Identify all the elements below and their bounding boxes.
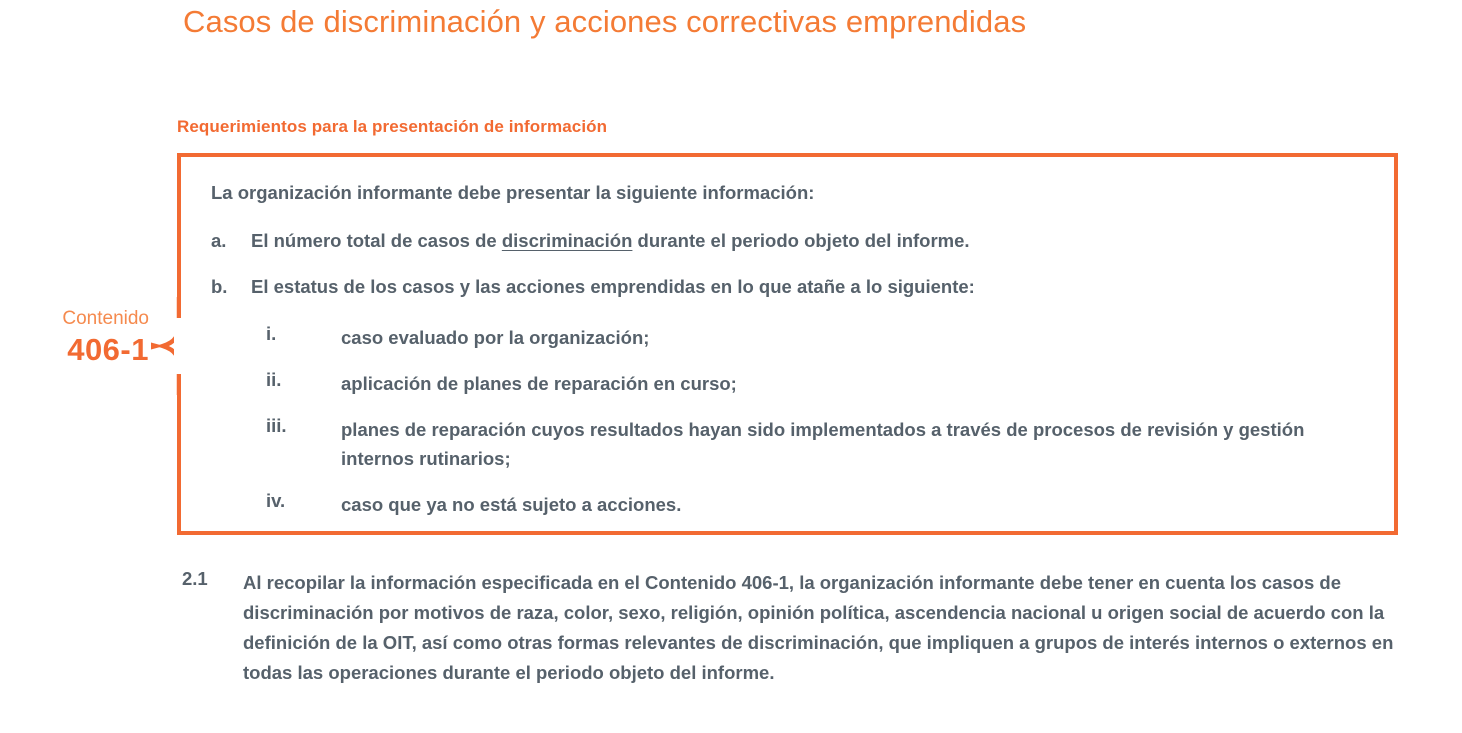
clause-number: 2.1 bbox=[182, 568, 208, 590]
glossary-term-link[interactable]: discriminación bbox=[502, 230, 633, 251]
list-item-text: El estatus de los casos y las acciones e… bbox=[251, 276, 975, 298]
list-marker: a. bbox=[211, 230, 237, 252]
list-item-text: caso que ya no está sujeto a acciones. bbox=[341, 490, 1351, 519]
list-marker: iv. bbox=[266, 490, 330, 512]
content-label-number: 406-1 bbox=[0, 332, 152, 368]
clause-text: Al recopilar la información especificada… bbox=[243, 568, 1403, 688]
list-item-text-before: El número total de casos de bbox=[251, 230, 502, 251]
brace-border-mask bbox=[174, 318, 181, 374]
list-item-text: caso evaluado por la organización; bbox=[341, 323, 1351, 352]
content-label: Contenido 406-1 bbox=[0, 306, 152, 368]
requirements-section-heading: Requerimientos para la presentación de i… bbox=[177, 117, 607, 137]
requirements-intro: La organización informante debe presenta… bbox=[211, 182, 814, 204]
list-item-text-after: durante el periodo objeto del informe. bbox=[632, 230, 969, 251]
list-item-text: aplicación de planes de reparación en cu… bbox=[341, 369, 1351, 398]
requirements-box: La organización informante debe presenta… bbox=[177, 153, 1398, 535]
list-marker: ii. bbox=[266, 369, 330, 391]
page-title: Casos de discriminación y acciones corre… bbox=[183, 4, 1026, 40]
list-item-text: El número total de casos de discriminaci… bbox=[251, 230, 970, 252]
content-label-word: Contenido bbox=[0, 306, 152, 332]
list-item-text: planes de reparación cuyos resultados ha… bbox=[341, 415, 1351, 473]
list-marker: iii. bbox=[266, 415, 330, 437]
list-marker: i. bbox=[266, 323, 330, 345]
list-marker: b. bbox=[211, 276, 237, 298]
